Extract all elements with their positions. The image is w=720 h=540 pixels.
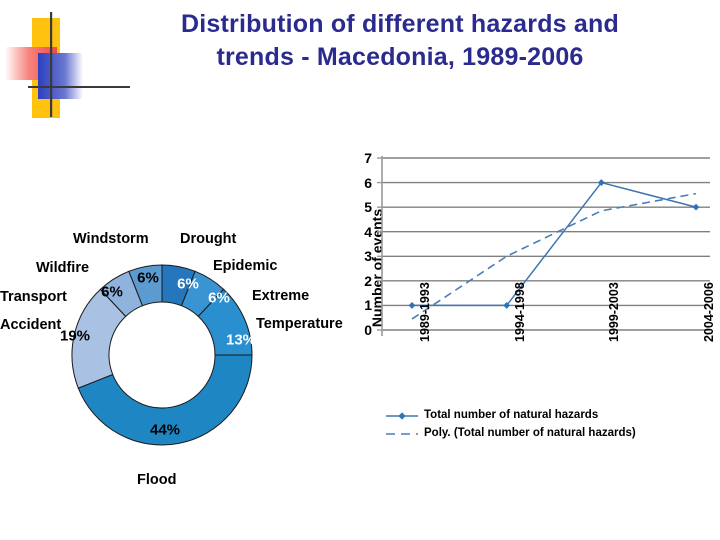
slice-value-flood: 44% [150, 422, 180, 439]
total-hazards-line-path [412, 183, 696, 306]
legend-marker-total-hazards [398, 412, 405, 419]
slice-value-epidemic: 6% [208, 290, 230, 307]
slice-label-wildfire: Wildfire [36, 260, 89, 276]
y-tick-label-2: 2 [356, 273, 372, 289]
data-marker-1989-1993 [409, 302, 416, 309]
slice-label-epidemic: Epidemic [213, 258, 277, 274]
slide-title-line-1: Distribution of different hazards and [110, 8, 690, 41]
slice-value-windstorm: 6% [137, 270, 159, 287]
y-tick-label-0: 0 [356, 322, 372, 338]
x-tick-label-1989-1993: 1989-1993 [418, 282, 432, 342]
slice-value-extreme-temperature: 13% [226, 332, 256, 349]
legend-label-poly-trend: Poly. (Total number of natural hazards) [424, 427, 636, 439]
slice-label-drought: Drought [180, 231, 236, 247]
logo-horizontal-rule [28, 86, 130, 88]
axis-group [377, 156, 382, 336]
legend-label-total-hazards: Total number of natural hazards [424, 409, 598, 421]
slice-label-transport-accident-line2: Accident [0, 317, 61, 333]
slice-value-drought: 6% [177, 276, 199, 293]
y-tick-label-5: 5 [356, 199, 372, 215]
x-tick-label-1994-1998: 1994-1998 [513, 282, 527, 342]
data-series-line [412, 183, 696, 306]
y-tick-label-4: 4 [356, 224, 372, 240]
x-tick-label-1999-2003: 1999-2003 [607, 282, 621, 342]
slice-label-extreme-temperature-line1: Extreme [252, 288, 309, 304]
hazard-distribution-doughnut-chart: 6% 6% 13% 44% 19% 6% 6% Windstorm Wildfi… [0, 228, 360, 508]
slice-label-flood: Flood [137, 472, 176, 488]
y-tick-label-3: 3 [356, 248, 372, 264]
slide-title: Distribution of different hazards and tr… [110, 8, 690, 74]
slice-label-windstorm: Windstorm [73, 231, 149, 247]
data-marker-2004-2006 [693, 204, 700, 211]
slide-title-line-2: trends - Macedonia, 1989-2006 [110, 41, 690, 74]
natural-hazard-trend-line-chart: Number of events 01234567 1989-19931994-… [330, 140, 720, 465]
x-tick-label-2004-2006: 2004-2006 [702, 282, 716, 342]
slice-value-wildfire: 6% [101, 284, 123, 301]
slice-value-transport-accident: 19% [60, 328, 90, 345]
legend-marker-group [386, 412, 418, 434]
y-tick-label-1: 1 [356, 297, 372, 313]
y-tick-label-7: 7 [356, 150, 372, 166]
y-tick-label-6: 6 [356, 175, 372, 191]
logo-blue-block [38, 53, 83, 99]
slice-label-transport-accident-line1: Transport [0, 289, 67, 305]
logo-vertical-rule [50, 12, 52, 117]
